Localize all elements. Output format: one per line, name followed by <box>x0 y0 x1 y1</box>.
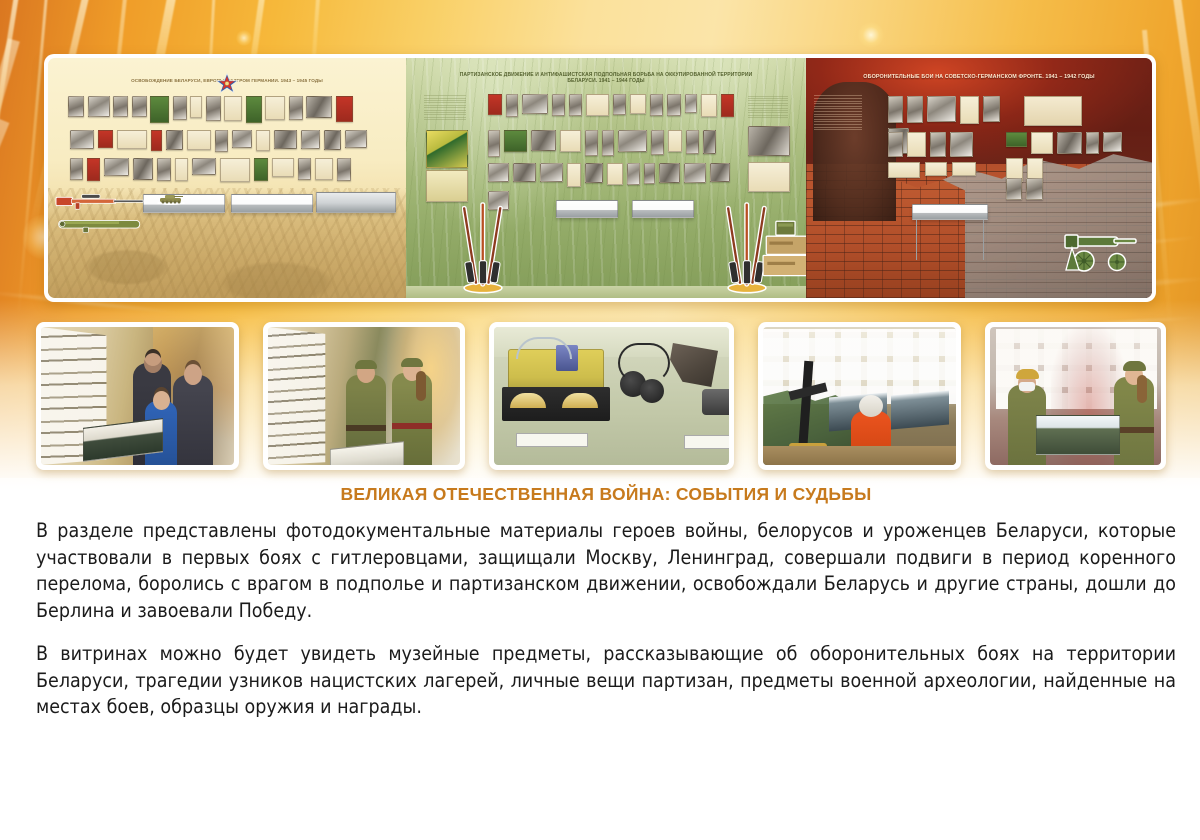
pilotka-cap-icon <box>1016 369 1039 379</box>
exhibit-photo <box>888 132 903 157</box>
exhibit-photo <box>703 130 716 154</box>
exhibit-photo <box>710 163 730 182</box>
soldier-belt <box>346 425 386 431</box>
exhibit-label <box>516 433 588 447</box>
exhibit-photo <box>133 158 153 180</box>
bokeh-orb <box>236 30 252 46</box>
panorama-image: ОСВОБОЖДЕНИЕ БЕЛАРУСИ, ЕВРОПЫ. РАЗГРОМ Г… <box>48 58 1152 298</box>
panel-defense: ОБОРОНИТЕЛЬНЫЕ БОИ НА СОВЕТСКО-ГЕРМАНСКО… <box>806 58 1152 298</box>
panel-liberation: ОСВОБОЖДЕНИЕ БЕЛАРУСИ, ЕВРОПЫ. РАЗГРОМ Г… <box>48 58 406 298</box>
exhibit-photo <box>173 96 187 120</box>
exhibit-document <box>175 158 188 181</box>
exhibit-photo <box>983 96 1000 122</box>
victory-star-emblem-icon <box>215 72 239 96</box>
thumbnail-4[interactable] <box>758 322 961 470</box>
soldier-belt <box>1114 427 1154 433</box>
panel-defense-heading: ОБОРОНИТЕЛЬНЫЕ БОИ НА СОВЕТСКО-ГЕРМАНСКО… <box>806 74 1152 81</box>
visitor-adult-female-head <box>184 364 202 385</box>
exhibit-photo <box>552 94 565 116</box>
exhibit-text-panel <box>424 94 466 120</box>
visitor-adult-female <box>173 375 213 465</box>
exhibit-document <box>265 96 285 120</box>
exhibit-document <box>567 163 581 187</box>
pilotka-cap-icon <box>1123 361 1146 371</box>
exhibit-photo <box>150 96 169 123</box>
exhibit-photo <box>132 96 147 117</box>
exhibit-document <box>888 162 920 178</box>
exhibit-award <box>1031 132 1053 154</box>
floor <box>763 446 956 465</box>
exhibit-photo-grid <box>1006 132 1138 182</box>
thumbnail-3-image <box>494 327 729 465</box>
exhibit-photo <box>748 126 790 156</box>
ammo-crates-icon <box>762 218 806 280</box>
display-case <box>891 390 949 429</box>
exhibit-photo <box>215 130 228 152</box>
exhibit-photo <box>667 94 681 116</box>
exhibit-text-panel <box>748 94 788 118</box>
exhibit-photo <box>930 132 946 157</box>
exhibit-photo <box>1026 178 1043 200</box>
thumbnail-3[interactable] <box>489 322 734 470</box>
exhibit-label <box>684 435 729 449</box>
exhibit-photo-grid <box>1006 178 1074 200</box>
exhibit-chart-panel <box>1024 96 1082 126</box>
display-case <box>912 204 988 220</box>
face-mask-icon <box>1019 382 1035 391</box>
exhibit-photo <box>531 130 556 151</box>
exhibit-photo-grid <box>488 94 736 117</box>
display-case <box>556 200 618 218</box>
exhibit-photo <box>627 163 640 185</box>
exhibit-photo <box>232 130 252 148</box>
display-case <box>231 194 313 213</box>
exhibit-document <box>925 162 947 176</box>
exhibit-photo <box>927 96 956 122</box>
exhibit-photo <box>907 96 923 123</box>
thumbnail-1-image <box>41 327 234 465</box>
section-paragraph-2: В витринах можно будет увидеть музейные … <box>36 641 1176 721</box>
exhibit-document <box>607 163 623 185</box>
exhibit-photo <box>306 96 332 118</box>
rifle-stack-left-icon <box>462 198 504 294</box>
exhibit-photo <box>104 158 129 176</box>
exhibit-photo <box>522 94 548 114</box>
exhibit-photo <box>506 94 518 117</box>
exhibit-photo <box>685 94 697 113</box>
thumbnail-2-image <box>268 327 461 465</box>
bokeh-orb <box>858 22 884 48</box>
exhibit-photo <box>1057 132 1082 154</box>
visitor-child-head <box>153 391 170 410</box>
exhibit-document <box>190 96 202 118</box>
hair <box>416 371 426 401</box>
exhibit-certificate <box>98 130 113 148</box>
page-title: ВЕЛИКАЯ ОТЕЧЕСТВЕННАЯ ВОЙНА: СОБЫТИЯ И С… <box>36 484 1176 505</box>
tank-model-icon <box>156 192 186 205</box>
binoculars <box>702 389 729 415</box>
pilotka-cap-icon <box>355 360 377 369</box>
display-case <box>632 200 694 218</box>
exhibit-photo <box>513 163 536 182</box>
exhibit-document <box>187 130 211 150</box>
section-paragraph-1: В разделе представлены фотодокументальны… <box>36 518 1176 624</box>
pilotka-cap-icon <box>401 358 423 367</box>
exhibit-poster <box>151 130 162 151</box>
exhibit-poster <box>426 130 468 168</box>
exhibit-photo-grid <box>888 132 998 157</box>
exhibit-photo <box>254 158 268 181</box>
exhibition-panorama-card[interactable]: ОСВОБОЖДЕНИЕ БЕЛАРУСИ, ЕВРОПЫ. РАЗГРОМ Г… <box>44 54 1156 302</box>
exhibit-photo-grid <box>70 130 396 152</box>
exhibit-photo <box>206 96 221 121</box>
exhibit-photo <box>644 163 655 184</box>
panel-partisan: ПАРТИЗАНСКОЕ ДВИЖЕНИЕ И АНТИФАШИСТСКАЯ П… <box>406 58 806 298</box>
display-case <box>1036 415 1120 455</box>
exhibit-poster <box>87 158 100 181</box>
exhibit-photo <box>68 96 84 117</box>
exhibit-photo <box>70 130 94 149</box>
exhibit-photo-grid <box>888 162 1000 178</box>
exhibit-photo <box>651 130 664 155</box>
exhibit-document <box>586 94 609 116</box>
exhibit-photo <box>888 96 903 123</box>
exhibit-document <box>701 94 717 117</box>
exhibit-document <box>960 96 979 124</box>
exhibit-photo <box>1103 132 1122 152</box>
exhibit-award <box>668 130 682 152</box>
maxim-machine-gun-icon <box>1062 226 1140 276</box>
exhibit-photo-grid <box>70 158 398 182</box>
exhibit-document <box>256 130 270 151</box>
thumbnail-1[interactable] <box>36 322 239 470</box>
hair <box>1137 375 1147 403</box>
exhibit-photo <box>585 130 598 156</box>
exhibit-photo <box>192 158 216 175</box>
exhibit-photo <box>166 130 183 150</box>
exhibit-photo-grid <box>488 130 738 157</box>
soldier-belt <box>392 423 432 429</box>
exhibit-photo <box>246 96 262 123</box>
exhibit-photo <box>324 130 341 150</box>
rocket-launcher-icon <box>56 214 146 234</box>
display-case-legs <box>916 220 984 260</box>
headphone-cord <box>618 343 670 383</box>
exhibit-photo <box>686 130 699 154</box>
thumbnail-5-image <box>990 327 1161 465</box>
exhibit-photo <box>602 130 614 156</box>
display-case <box>316 192 396 213</box>
visitor-adult-male-head <box>144 353 162 373</box>
exhibit-photo <box>504 130 527 152</box>
exhibit-text-panel <box>814 94 862 130</box>
exhibit-photo <box>88 96 110 117</box>
exhibit-photo <box>618 130 647 152</box>
exhibit-photo <box>569 94 582 116</box>
exhibit-photo <box>684 163 706 183</box>
exhibit-photo <box>488 130 500 157</box>
exhibit-photo <box>748 162 790 192</box>
exhibit-document <box>272 158 294 177</box>
exhibit-photo-grid <box>68 96 398 123</box>
exhibit-photo <box>585 163 603 183</box>
exhibit-document <box>220 158 250 182</box>
exhibit-poster <box>488 94 502 115</box>
exhibit-document <box>315 158 333 180</box>
exhibit-photo <box>613 94 626 115</box>
exhibit-photo <box>70 158 83 180</box>
thumbnail-5[interactable] <box>985 322 1166 470</box>
exhibit-document <box>907 132 926 157</box>
exhibit-photo <box>1006 178 1022 200</box>
exhibit-document <box>952 162 976 176</box>
exhibit-photo <box>298 158 311 180</box>
exhibit-photo <box>274 130 297 149</box>
exhibit-photo <box>1086 132 1099 154</box>
exhibit-photo <box>540 163 563 182</box>
sniper-rifle-icon <box>54 190 146 212</box>
exhibit-award <box>630 94 646 114</box>
section-text-block: ВЕЛИКАЯ ОТЕЧЕСТВЕННАЯ ВОЙНА: СОБЫТИЯ И С… <box>36 484 1176 721</box>
exhibit-poster <box>336 96 353 122</box>
exhibit-poster <box>721 94 734 117</box>
exhibit-photo <box>650 94 663 116</box>
thumbnail-4-image <box>763 327 956 465</box>
exhibit-photo <box>488 163 509 182</box>
exhibit-photo <box>157 158 171 181</box>
exhibit-photo <box>1006 132 1027 147</box>
thumbnail-row <box>36 322 1166 470</box>
exhibit-document <box>117 130 147 149</box>
exhibit-photo <box>950 132 973 157</box>
exhibit-photo <box>659 163 680 183</box>
thumbnail-2[interactable] <box>263 322 466 470</box>
exhibit-photo <box>345 130 367 148</box>
exhibit-document <box>560 130 581 152</box>
exhibit-photo <box>289 96 303 120</box>
museum-staff-right <box>1114 377 1154 465</box>
exhibit-photo <box>301 130 320 149</box>
exhibit-photo <box>337 158 351 181</box>
exhibit-document <box>224 96 242 121</box>
exhibit-photo <box>113 96 128 117</box>
